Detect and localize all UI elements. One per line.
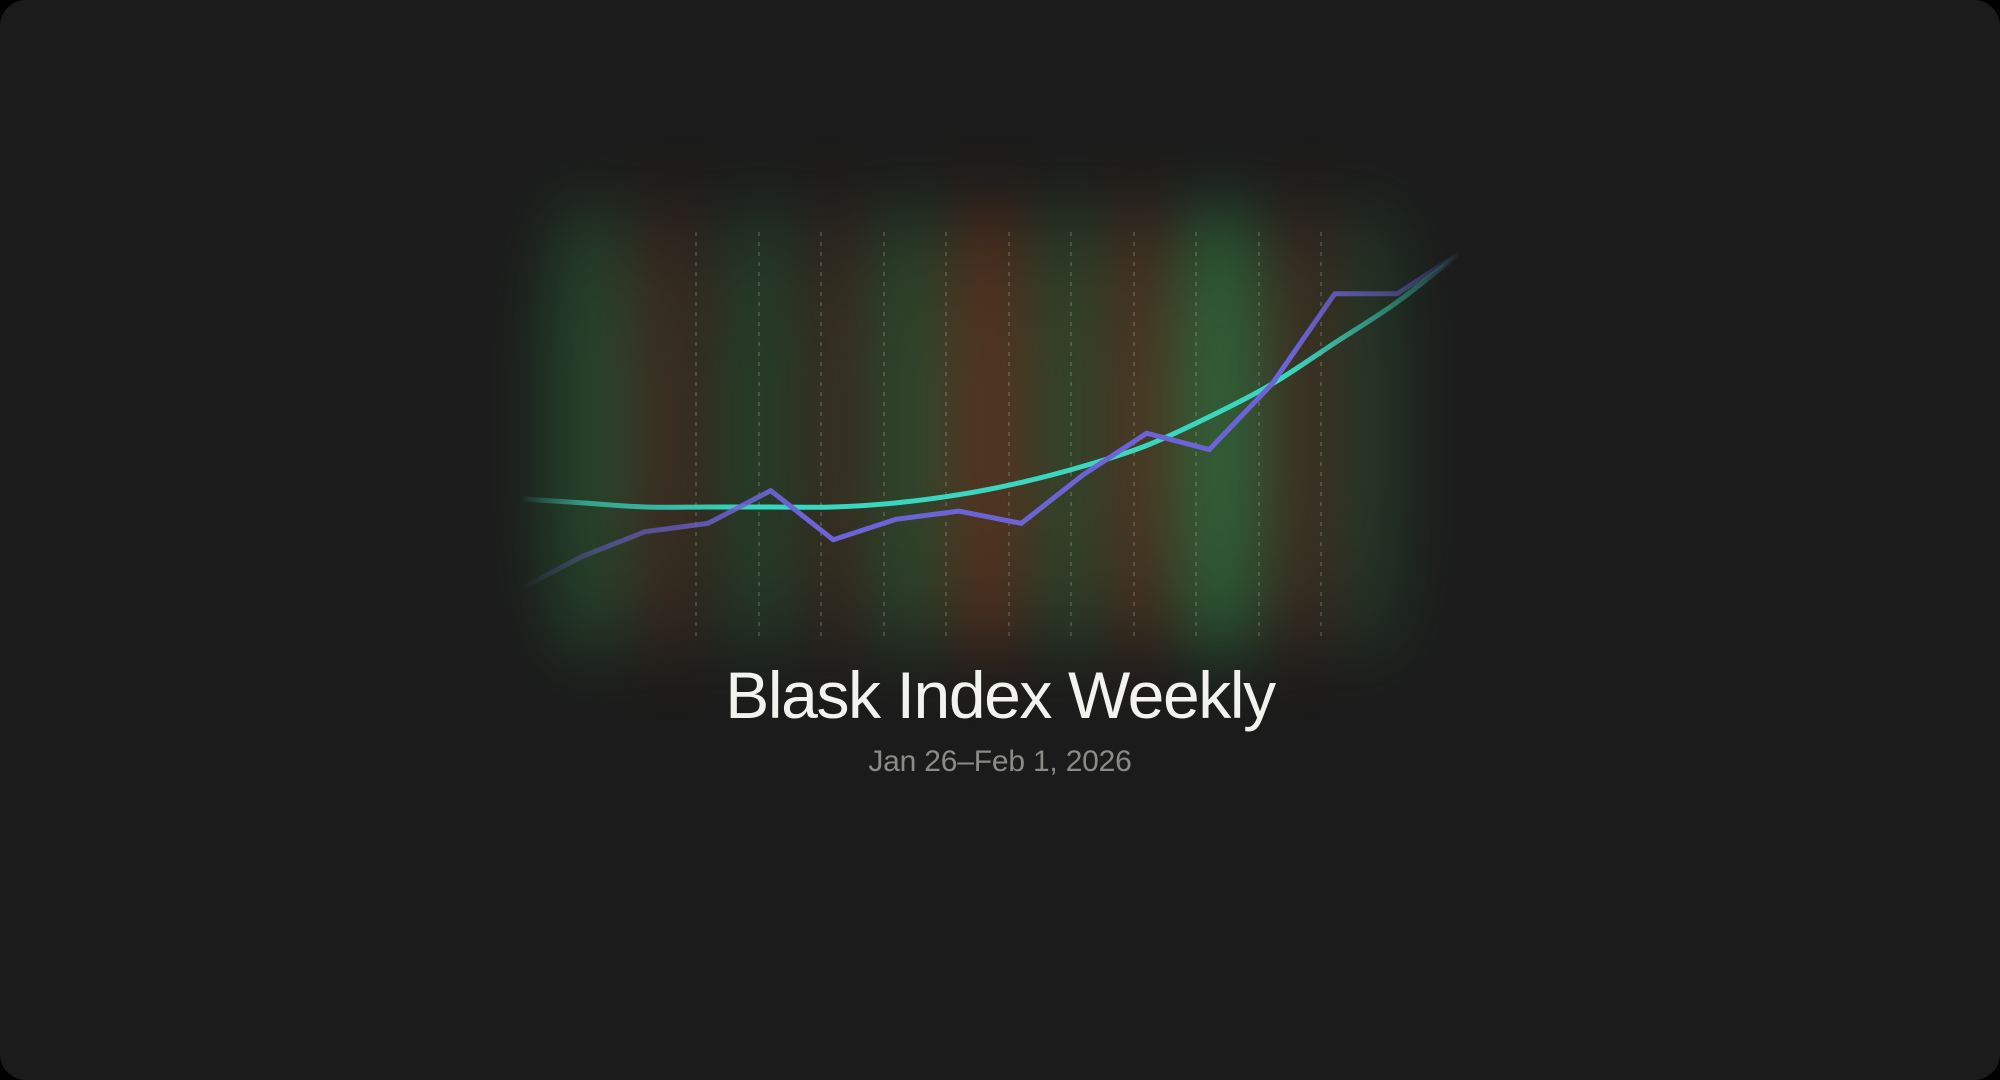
chart-stage	[500, 200, 1500, 660]
caption-block: Blask Index Weekly Jan 26–Feb 1, 2026	[0, 660, 2000, 779]
chart-line-index-trend	[520, 253, 1460, 508]
chart-line-index-actual	[520, 253, 1460, 589]
weekly-report-card: Blask Index Weekly Jan 26–Feb 1, 2026	[0, 0, 2000, 1080]
chart-lines	[500, 200, 1500, 660]
date-range-label: Jan 26–Feb 1, 2026	[0, 745, 2000, 779]
page-title: Blask Index Weekly	[0, 660, 2000, 731]
